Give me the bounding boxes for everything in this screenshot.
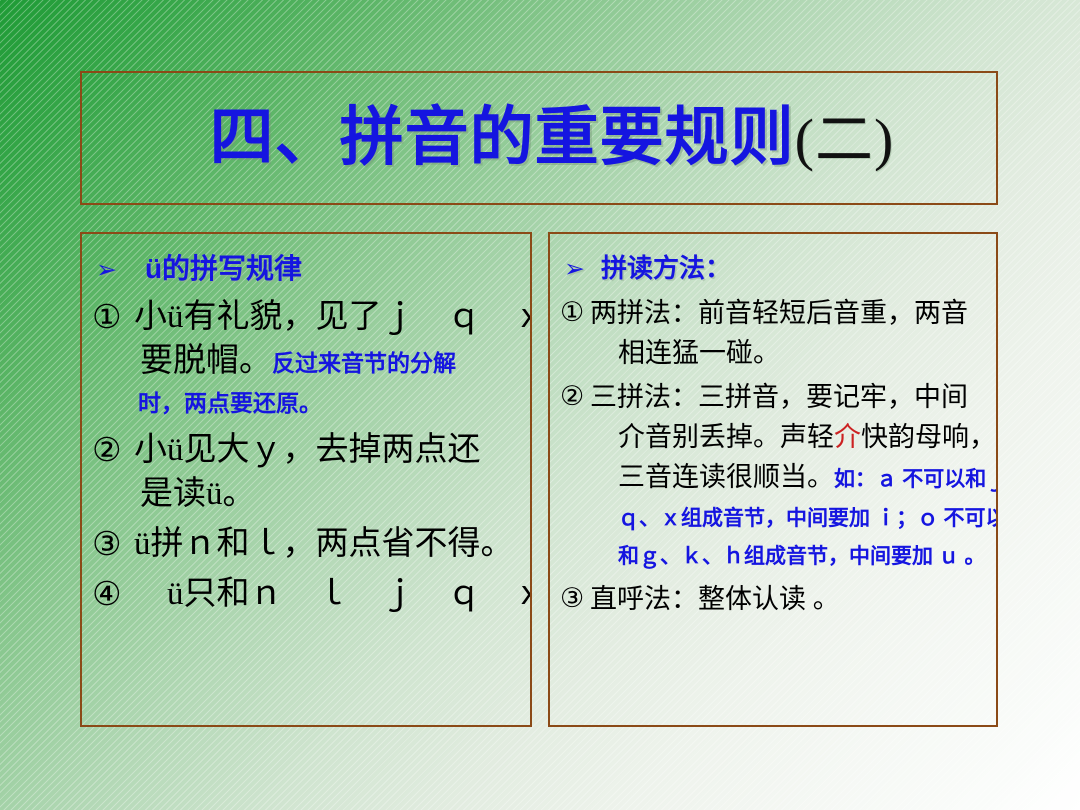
item-line: 要脱帽。反过来音节的分解 — [134, 339, 532, 386]
item-marker: ④ — [92, 572, 134, 616]
item-body: ü只和ｎ ｌ ｊ ｑ ｘ相拼。 — [134, 572, 532, 616]
item-body: 直呼法：整体认读 。 — [590, 579, 986, 619]
left-panel-heading-label: ü的拼写规律 — [145, 247, 302, 287]
item-line-note: 反过来音节的分解 — [272, 351, 456, 376]
item-line: 小ü有礼貌，见了ｊ ｑ ｘ — [134, 295, 532, 339]
item-line-main: 三音连读很顺当。 — [618, 462, 834, 492]
list-item: ② 三拼法：三拼音，要记牢，中间 介音别丢掉。声轻介快韵母响， 三音连读很顺当。… — [560, 377, 986, 575]
item-marker: ① — [92, 295, 134, 339]
item-line: 相连猛一碰。 — [590, 333, 986, 373]
item-line: 三拼法：三拼音，要记牢，中间 — [590, 377, 998, 417]
item-body: ü拼ｎ和ｌ，两点省不得。 — [134, 522, 520, 566]
item-line: 是读ü。 — [134, 472, 520, 516]
left-content-panel: ➢ ü的拼写规律 ① 小ü有礼貌，见了ｊ ｑ ｘ 要脱帽。反过来音节的分解 时，… — [80, 232, 532, 727]
list-item: ① 两拼法：前音轻短后音重，两音 相连猛一碰。 — [560, 293, 986, 373]
item-line: 三音连读很顺当。如：ａ 不可以和ｊ、 — [590, 457, 998, 499]
list-item: ③ 直呼法：整体认读 。 — [560, 579, 986, 619]
right-panel-heading: ➢ 拼读方法： — [560, 242, 986, 289]
slide-canvas: 四、拼音的重要规则(二) ➢ ü的拼写规律 ① 小ü有礼貌，见了ｊ ｑ ｘ 要脱… — [0, 0, 1080, 810]
right-panel-heading-label: 拼读方法： — [601, 248, 731, 285]
item-line: ü只和ｎ ｌ ｊ ｑ ｘ相拼。 — [134, 572, 532, 616]
list-item: ③ ü拼ｎ和ｌ，两点省不得。 — [92, 522, 520, 566]
item-marker: ③ — [560, 579, 590, 619]
right-content-panel: ➢ 拼读方法： ① 两拼法：前音轻短后音重，两音 相连猛一碰。 ② 三拼法：三拼… — [548, 232, 998, 727]
item-body: 小ü见大ｙ，去掉两点还 是读ü。 — [134, 428, 520, 516]
item-line: 直呼法：整体认读 。 — [590, 579, 986, 619]
item-line-part-b: 快韵母响， — [861, 422, 996, 452]
list-item: ① 小ü有礼貌，见了ｊ ｑ ｘ 要脱帽。反过来音节的分解 时，两点要还原。 — [92, 295, 520, 422]
item-note-line: ｑ、ｘ组成音节，中间要加 ｉ；ｏ 不可以 — [590, 499, 998, 537]
item-line: 小ü见大ｙ，去掉两点还 — [134, 428, 520, 472]
item-marker: ② — [92, 428, 134, 472]
highlighted-character: 介 — [834, 422, 861, 452]
title-parenthetical: (二) — [795, 107, 895, 172]
item-line: 介音别丢掉。声轻介快韵母响， — [590, 417, 998, 457]
item-line: ü拼ｎ和ｌ，两点省不得。 — [134, 522, 520, 566]
item-marker: ② — [560, 377, 590, 417]
arrow-bullet-icon: ➢ — [96, 258, 117, 283]
item-note-line: 时，两点要还原。 — [134, 386, 532, 422]
list-item: ④ ü只和ｎ ｌ ｊ ｑ ｘ相拼。 — [92, 572, 520, 616]
item-line-part-a: 介音别丢掉。声轻 — [618, 422, 834, 452]
item-line-main: 要脱帽。 — [140, 343, 272, 379]
item-body: 两拼法：前音轻短后音重，两音 相连猛一碰。 — [590, 293, 986, 373]
list-item: ② 小ü见大ｙ，去掉两点还 是读ü。 — [92, 428, 520, 516]
page-title: 四、拼音的重要规则(二) — [184, 106, 895, 170]
item-line: 两拼法：前音轻短后音重，两音 — [590, 293, 986, 333]
item-note-line: 和ｇ、ｋ、ｈ组成音节，中间要加 ｕ 。 — [590, 537, 998, 575]
title-box: 四、拼音的重要规则(二) — [80, 71, 998, 205]
item-body: 三拼法：三拼音，要记牢，中间 介音别丢掉。声轻介快韵母响， 三音连读很顺当。如：… — [590, 377, 998, 575]
item-body: 小ü有礼貌，见了ｊ ｑ ｘ 要脱帽。反过来音节的分解 时，两点要还原。 — [134, 295, 532, 422]
title-main-text: 四、拼音的重要规则 — [210, 102, 795, 173]
item-marker: ① — [560, 293, 590, 333]
left-panel-heading: ➢ ü的拼写规律 — [92, 242, 520, 289]
item-line-note: 如：ａ 不可以和ｊ、 — [834, 467, 998, 491]
item-marker: ③ — [92, 522, 134, 566]
arrow-bullet-icon: ➢ — [564, 257, 585, 282]
